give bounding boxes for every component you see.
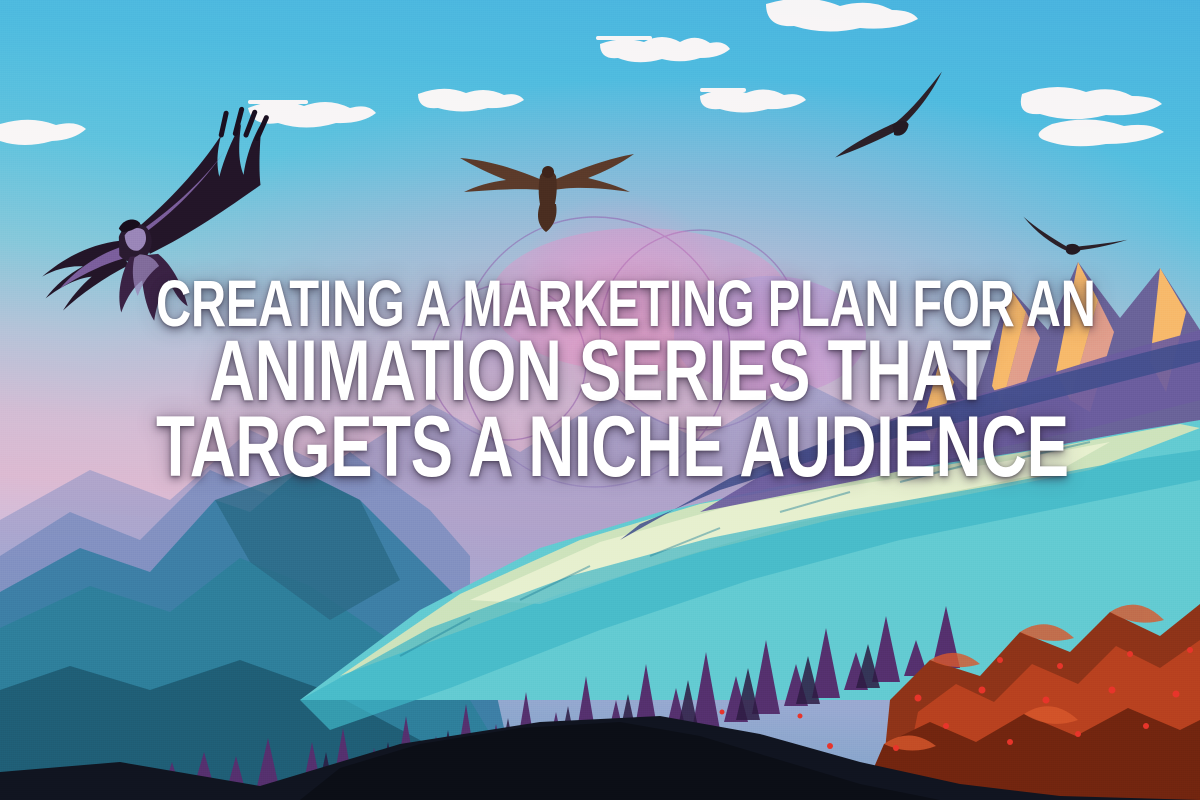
brown-hawk — [460, 154, 634, 232]
hawk-wing-left — [460, 158, 542, 192]
hawk-tail — [538, 204, 557, 232]
hawk-wing-right — [554, 154, 634, 192]
condor-primaries-right — [216, 104, 270, 147]
distant-bird-lower-body — [1066, 243, 1081, 255]
distant-bird-upper — [824, 72, 954, 158]
headline-block: Creating a Marketing Plan for an Animati… — [0, 272, 1200, 488]
hawk-head — [542, 166, 554, 178]
headline-line-3: Targets a Niche Audience — [156, 408, 1044, 488]
banner-image: Creating a Marketing Plan for an Animati… — [0, 0, 1200, 800]
distant-bird-lower — [1020, 217, 1129, 261]
distant-bird-upper-wings — [824, 72, 954, 158]
distant-bird-upper-body — [892, 119, 910, 136]
